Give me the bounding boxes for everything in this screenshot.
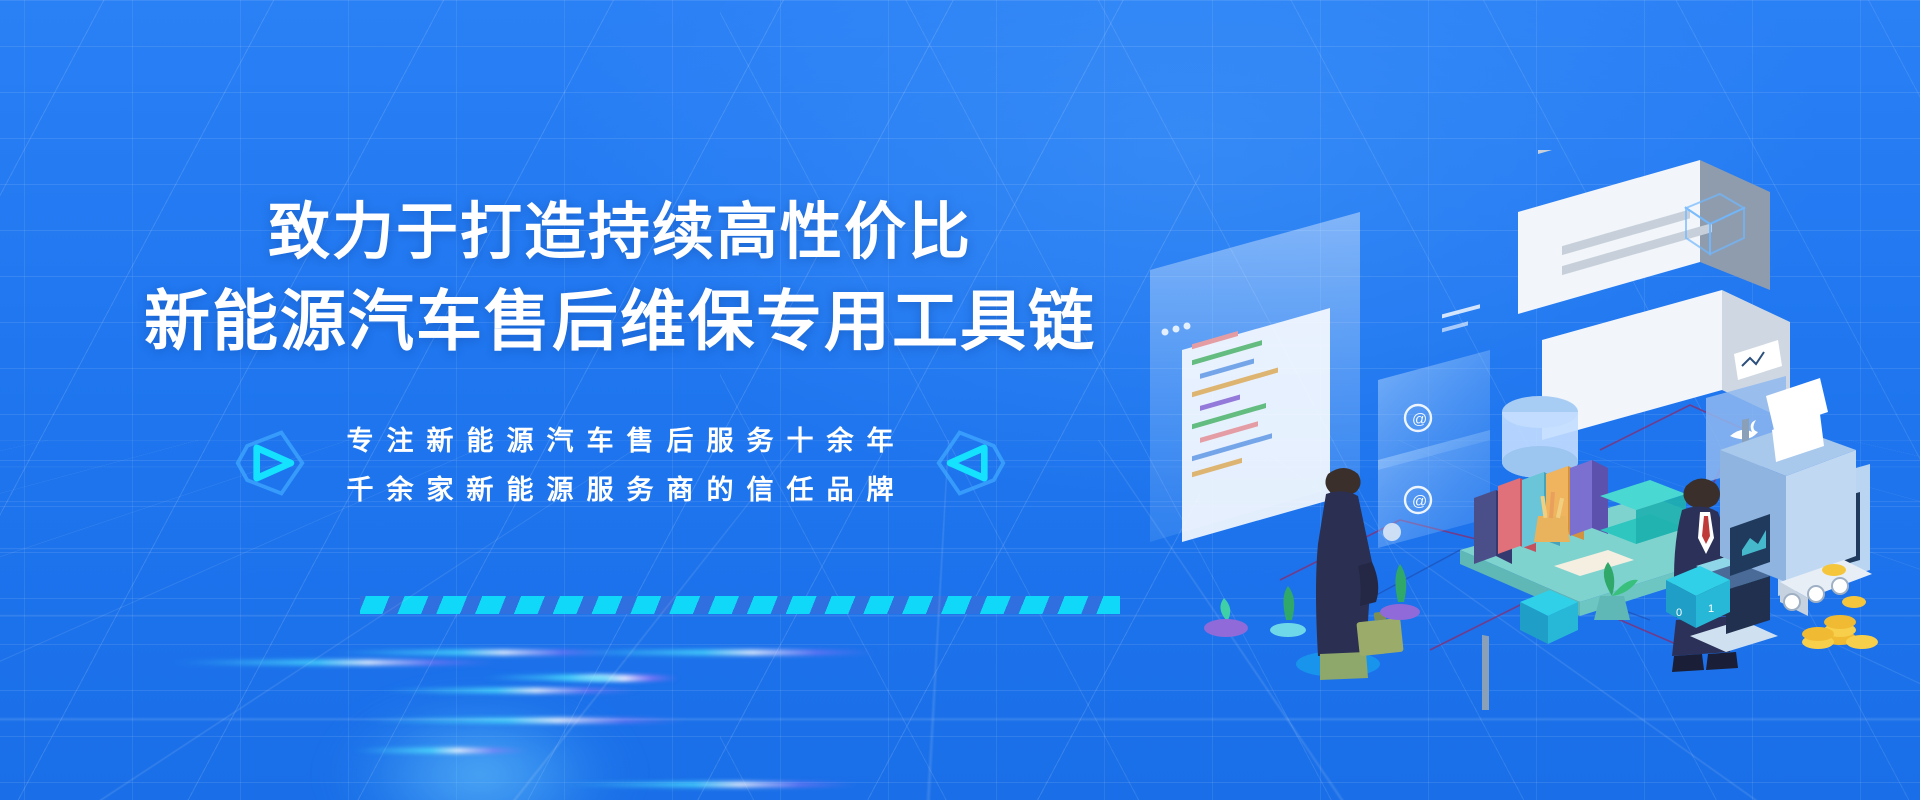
- decorative-vase: [1204, 598, 1248, 637]
- hero-text-block: 致力于打造持续高性价比 新能源汽车售后维保专用工具链 专注新能源汽车售后服务十余…: [0, 190, 1240, 507]
- svg-text:1: 1: [1708, 603, 1714, 615]
- light-streak: [360, 718, 690, 723]
- light-streak: [560, 650, 880, 655]
- light-streak: [350, 748, 530, 753]
- decorative-plant: [1270, 586, 1306, 637]
- gold-coin-stack: [1802, 596, 1878, 649]
- triangle-left-hexagon-icon: [933, 425, 1009, 501]
- database-cylinder: [1502, 396, 1578, 478]
- svg-text:@: @: [1412, 411, 1427, 428]
- subtitle-line-1: 专注新能源汽车售后服务十余年: [334, 419, 907, 458]
- subtitle-line-2: 千余家新能源服务商的信任品牌: [334, 468, 907, 507]
- isometric-business-meeting-illustration: @ @: [1130, 150, 1910, 710]
- triangle-right-hexagon-icon: [232, 425, 308, 501]
- hero-banner: 致力于打造持续高性价比 新能源汽车售后维保专用工具链 专注新能源汽车售后服务十余…: [0, 0, 1920, 800]
- light-streak: [540, 676, 680, 681]
- decorative-plant: [1380, 564, 1420, 620]
- light-streak: [170, 660, 500, 665]
- headline-line-1: 致力于打造持续高性价比: [0, 190, 1240, 276]
- subtitle-row: 专注新能源汽车售后服务十余年 千余家新能源服务商的信任品牌: [0, 419, 1240, 507]
- diagonal-stripe-bar: [360, 596, 1120, 614]
- light-streak: [560, 782, 860, 787]
- svg-text:0: 0: [1676, 607, 1682, 619]
- code-window-panel: [1150, 212, 1360, 542]
- svg-text:@: @: [1412, 493, 1427, 510]
- subtitle-lines: 专注新能源汽车售后服务十余年 千余家新能源服务商的信任品牌: [334, 419, 907, 507]
- light-streak: [380, 688, 640, 693]
- headline-line-2: 新能源汽车售后维保专用工具链: [0, 276, 1240, 367]
- chat-bubble-panel-top: [1518, 150, 1770, 314]
